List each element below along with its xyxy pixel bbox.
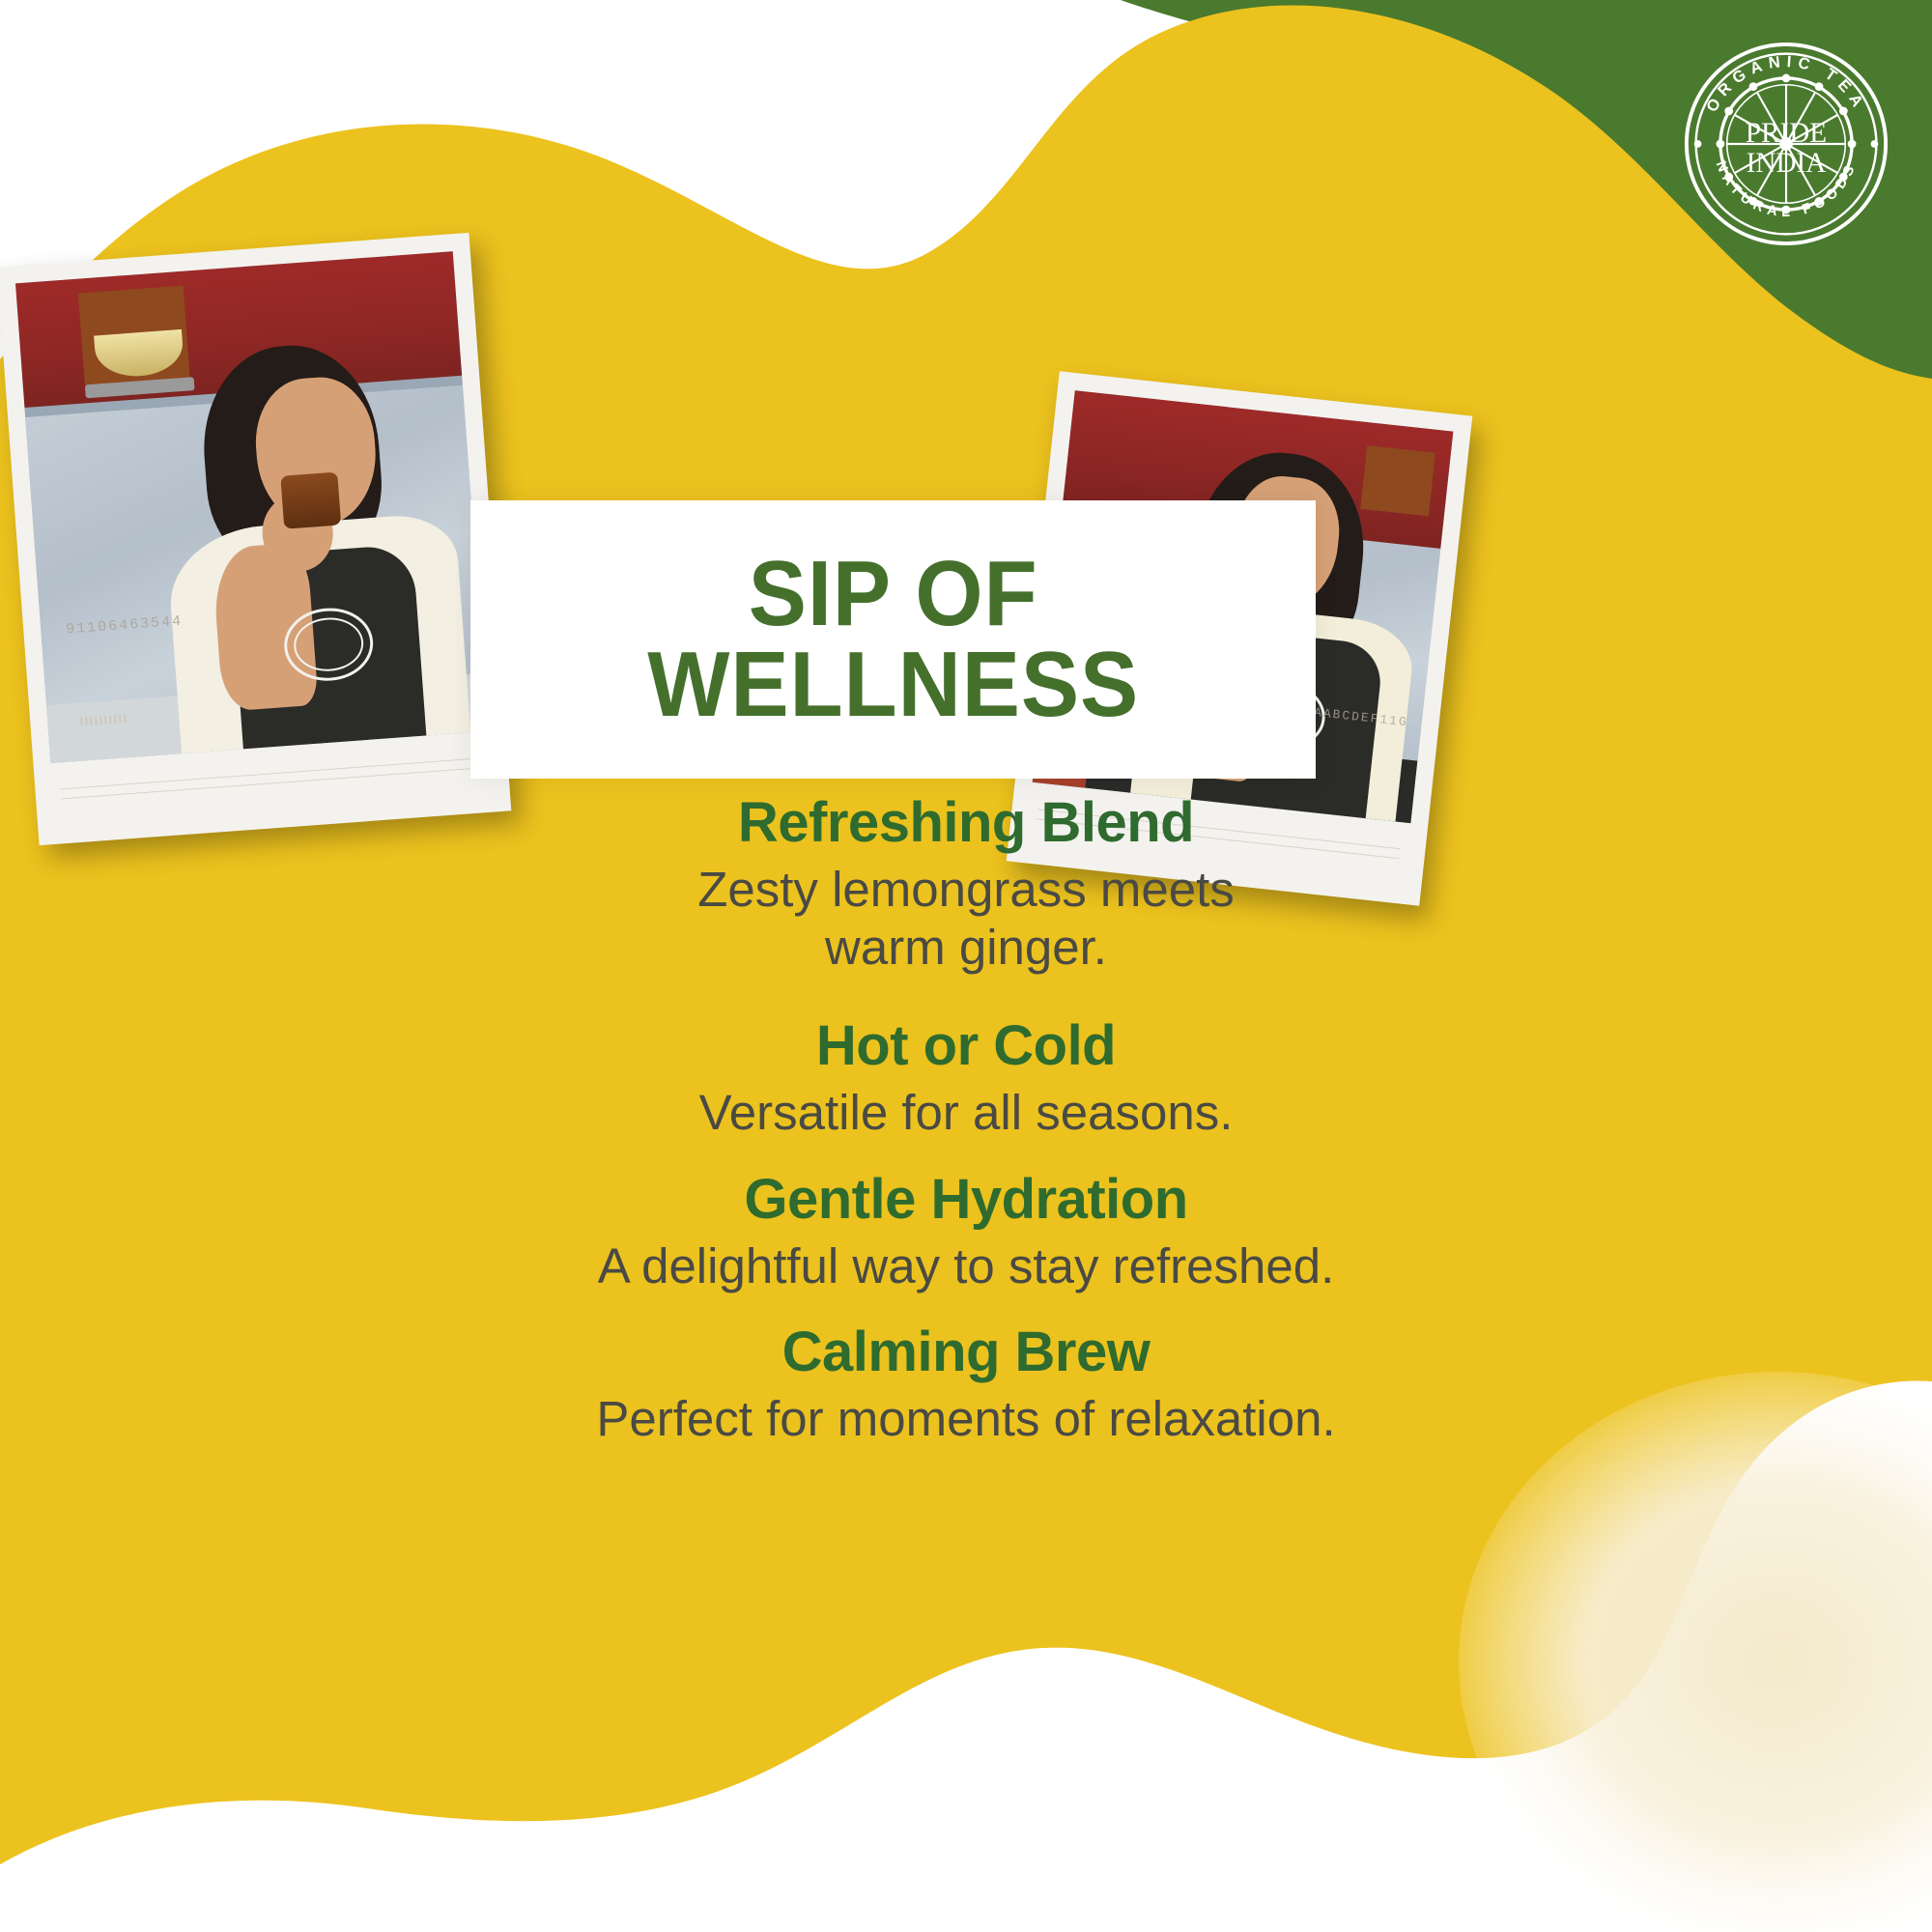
feature-heading: Calming Brew — [319, 1321, 1613, 1384]
feature-item-gentle-hydration: Gentle Hydration A delightful way to sta… — [319, 1169, 1613, 1295]
logo-center-line2: INDIA — [1747, 148, 1827, 179]
feature-heading: Gentle Hydration — [319, 1169, 1613, 1232]
logo-dot-right — [1871, 140, 1879, 148]
feature-body-line-2: warm ginger. — [319, 919, 1613, 977]
page-title: SIP OF WELLNESS — [647, 549, 1139, 730]
feature-item-calming-brew: Calming Brew Perfect for moments of rela… — [319, 1321, 1613, 1448]
title-line-2: WELLNESS — [647, 639, 1139, 730]
logo-wordmark: PRIDE INDIA — [1735, 118, 1838, 179]
feature-body-line-1: Zesty lemongrass meets — [319, 861, 1613, 919]
feature-body-line-1: Versatile for all seasons. — [319, 1084, 1613, 1142]
feature-heading: Hot or Cold — [319, 1015, 1613, 1078]
feature-list: Refreshing Blend Zesty lemongrass meets … — [319, 792, 1613, 1469]
feature-item-refreshing-blend: Refreshing Blend Zesty lemongrass meets … — [319, 792, 1613, 977]
feature-item-hot-or-cold: Hot or Cold Versatile for all seasons. — [319, 1015, 1613, 1142]
brand-logo-badge: ORGANIC TEA NATURAL FOODS PRIDE INDIA — [1683, 41, 1889, 247]
feature-body-line-1: A delightful way to stay refreshed. — [319, 1237, 1613, 1295]
feature-heading: Refreshing Blend — [319, 792, 1613, 855]
logo-center-line1: PRIDE — [1746, 118, 1827, 149]
poster-canvas: ORGANIC TEA NATURAL FOODS PRIDE INDIA — [0, 0, 1932, 1932]
photo-left-image: 91106463544 — [15, 251, 488, 763]
feature-body-line-1: Perfect for moments of relaxation. — [319, 1390, 1613, 1448]
title-line-1: SIP OF — [647, 549, 1139, 639]
title-banner: SIP OF WELLNESS — [470, 500, 1316, 779]
polaroid-photo-left: 91106463544 — [0, 233, 511, 845]
logo-dot-left — [1694, 140, 1702, 148]
